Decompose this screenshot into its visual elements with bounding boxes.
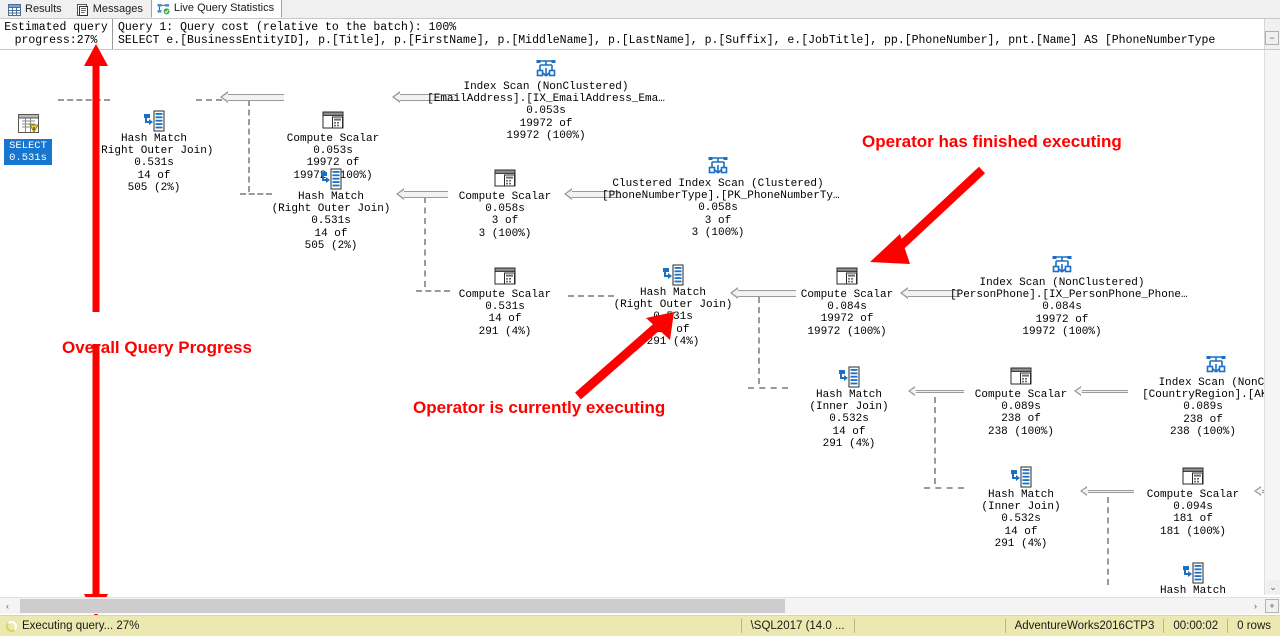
operator-rows-actual: 14 of [270, 228, 392, 240]
status-bar: Executing query... 27% \SQL2017 (14.0 ..… [0, 615, 1280, 636]
estimated-progress-line1: Estimated query [0, 21, 112, 34]
query-cost-line: Query 1: Query cost (relative to the bat… [118, 21, 1264, 34]
connector-hm5-cs6-bar [1088, 490, 1134, 493]
connector-hm3-branch-v [758, 297, 760, 384]
spinner-icon [6, 621, 17, 632]
plan-node-clustered-index-scan-phonenumbertype[interactable]: Clustered Index Scan (Clustered) [PhoneN… [602, 155, 834, 239]
connector-hm1-cs1-bar [228, 94, 284, 101]
tab-live-query-statistics-label: Live Query Statistics [174, 3, 274, 14]
connector-hm4-branch-h [924, 487, 964, 489]
operator-time: 0.084s [950, 301, 1174, 313]
connector-hm1-branch-h2 [240, 193, 272, 195]
connector-cs5-iscountry-bar [1082, 390, 1128, 393]
plan-node-compute-scalar-4[interactable]: Compute Scalar 0.084s 19972 of 19972 (10… [786, 266, 908, 338]
operator-rows-actual: 14 of [788, 426, 910, 438]
operator-rows-actual: 14 of [93, 170, 215, 182]
operator-title: Hash Match [1132, 585, 1254, 595]
query-cost-text: Query 1: Query cost (relative to the bat… [114, 19, 1264, 50]
operator-rows-actual: 181 of [1132, 513, 1254, 525]
compute-scalar-icon [1010, 366, 1032, 388]
operator-time: 0.531s [444, 301, 566, 313]
operator-rows-estimated: 181 (100%) [1132, 526, 1254, 538]
tab-results[interactable]: Results [2, 0, 70, 18]
status-executing-text: Executing query... 27% [22, 620, 139, 632]
connector-hm2-cs2-head [396, 188, 404, 200]
operator-rows-estimated: 505 (2%) [93, 182, 215, 194]
operator-subtitle: (Right Outer Join) [270, 203, 392, 215]
operator-title: Compute Scalar [444, 191, 566, 203]
annotation-arrow-executing [562, 308, 682, 403]
plan-node-index-scan-countryregion[interactable]: Index Scan (NonClu [CountryRegion].[AK_C… [1128, 354, 1280, 438]
operator-rows-estimated: 19972 (100%) [786, 326, 908, 338]
operator-rows-actual: 14 of [960, 526, 1082, 538]
connector-hm1-cs1-head [220, 91, 228, 103]
message-icon [76, 4, 89, 16]
compute-scalar-icon [836, 266, 858, 288]
connector-hm1-branch-h [196, 99, 222, 101]
operator-time: 0.531s [270, 215, 392, 227]
plan-node-compute-scalar-3[interactable]: Compute Scalar 0.531s 14 of 291 (4%) [444, 266, 566, 338]
operator-title: Compute Scalar [1132, 489, 1254, 501]
operator-subtitle: [CountryRegion].[AK_Cou [1128, 389, 1280, 401]
operator-title: Hash Match [788, 389, 910, 401]
grid-icon [8, 4, 21, 16]
tab-live-query-statistics[interactable]: Live Query Statistics [151, 0, 282, 18]
hash-match-icon [662, 264, 684, 286]
tab-messages-label: Messages [93, 4, 143, 15]
operator-title: Hash Match [960, 489, 1082, 501]
plan-node-hash-match-4[interactable]: Hash Match (Inner Join) 0.532s 14 of 291… [788, 366, 910, 450]
connector-hm4-cs5-bar [916, 390, 964, 393]
scroll-left-arrow[interactable]: ‹ [0, 599, 15, 614]
operator-rows-actual: 19972 of [424, 118, 668, 130]
operator-rows-actual: 238 of [1128, 414, 1278, 426]
plan-node-select[interactable]: SELECT 0.531s [4, 114, 52, 165]
annotation-overall-progress: Overall Query Progress [62, 338, 252, 358]
operator-rows-estimated: 3 (100%) [602, 227, 834, 239]
connector-cs1-isemail-head [392, 91, 400, 103]
status-database: AdventureWorks2016CTP3 [1006, 620, 1164, 632]
connector-cs3-hm3 [568, 295, 614, 297]
compute-scalar-icon [322, 110, 344, 132]
operator-time: 0.531s [93, 157, 215, 169]
live-stats-icon [157, 3, 170, 15]
select-result-icon [13, 114, 43, 138]
connector-hm3-branch-h [748, 387, 788, 389]
operator-subtitle: (Inner Join) [960, 501, 1082, 513]
estimated-query-progress: Estimated query progress:27% [0, 19, 113, 50]
operator-subtitle: (Right Outer Join) [93, 145, 215, 157]
connector-hm1-branch-v [248, 100, 250, 192]
operator-rows-actual: 19972 of [950, 314, 1174, 326]
clustered-index-scan-icon [706, 155, 730, 177]
plan-node-compute-scalar-5[interactable]: Compute Scalar 0.089s 238 of 238 (100%) [960, 366, 1082, 438]
operator-title: Hash Match [612, 287, 734, 299]
status-server: \SQL2017 (14.0 ... [742, 620, 854, 632]
plan-node-index-scan-emailaddress[interactable]: Index Scan (NonClustered) [EmailAddress]… [424, 58, 668, 142]
connector-cs6-offscreen-head [1254, 486, 1261, 496]
hash-match-icon [1182, 562, 1204, 584]
operator-time: 0.084s [786, 301, 908, 313]
operator-rows-estimated: 238 (100%) [960, 426, 1082, 438]
operator-time: 0.089s [960, 401, 1082, 413]
tab-results-label: Results [25, 4, 62, 15]
connector-hm2-branch-v [424, 197, 426, 287]
annotation-arrow-finished [860, 160, 990, 265]
operator-time: 0.532s [788, 413, 910, 425]
status-rows: 0 rows [1228, 620, 1280, 632]
operator-rows-actual: 238 of [960, 413, 1082, 425]
scroll-track[interactable] [15, 599, 1248, 613]
index-scan-icon [534, 58, 558, 80]
scroll-right-arrow[interactable]: › [1248, 598, 1263, 615]
operator-rows-estimated: 238 (100%) [1128, 426, 1278, 438]
scroll-thumb[interactable] [20, 599, 785, 613]
operator-time: 0.532s [960, 513, 1082, 525]
plan-node-compute-scalar-2[interactable]: Compute Scalar 0.058s 3 of 3 (100%) [444, 168, 566, 240]
operator-rows-estimated: 19972 (100%) [950, 326, 1174, 338]
execution-plan-canvas[interactable]: SELECT 0.531s [0, 50, 1280, 595]
operator-rows-estimated: 291 (4%) [960, 538, 1082, 550]
operator-time: 0.053s [424, 105, 668, 117]
select-node-badge: SELECT 0.531s [4, 139, 52, 165]
operator-subtitle: [EmailAddress].[IX_EmailAddress_Ema… [424, 93, 668, 105]
operator-title: Compute Scalar [272, 133, 394, 145]
plan-node-hash-match-6[interactable]: Hash Match [1132, 562, 1254, 595]
header-collapse-button[interactable]: − [1265, 31, 1279, 45]
compute-scalar-icon [1182, 466, 1204, 488]
operator-rows-actual: 3 of [602, 215, 834, 227]
operator-subtitle: (Inner Join) [788, 401, 910, 413]
operator-title: Index Scan (NonClustered) [950, 277, 1174, 289]
tab-messages[interactable]: Messages [70, 0, 151, 18]
operator-time: 0.058s [602, 202, 834, 214]
header-scroll-cap: − [1264, 19, 1280, 50]
connector-hm2-cs2-bar [404, 191, 448, 198]
operator-title: Compute Scalar [786, 289, 908, 301]
results-pane-tabstrip: Results Messages Live Query Statistics [0, 0, 1280, 19]
operator-title: Compute Scalar [960, 389, 1082, 401]
plan-horizontal-scrollbar[interactable]: ‹ › + [0, 597, 1280, 614]
plan-vertical-scrollbar[interactable]: ⌄ [1264, 50, 1280, 595]
status-elapsed: 00:00:02 [1164, 620, 1227, 632]
operator-time: 0.094s [1132, 501, 1254, 513]
operator-rows-estimated: 19972 (100%) [424, 130, 668, 142]
compute-scalar-icon [494, 168, 516, 190]
operator-title: Hash Match [270, 191, 392, 203]
operator-rows-estimated: 291 (4%) [788, 438, 910, 450]
scroll-down-arrow[interactable]: ⌄ [1266, 580, 1280, 594]
plan-node-hash-match-5[interactable]: Hash Match (Inner Join) 0.532s 14 of 291… [960, 466, 1082, 550]
operator-title: Hash Match [93, 133, 215, 145]
plan-node-hash-match-2[interactable]: Hash Match (Right Outer Join) 0.531s 14 … [270, 168, 392, 252]
hash-match-icon [320, 168, 342, 190]
operator-rows-estimated: 505 (2%) [270, 240, 392, 252]
operator-subtitle: [PersonPhone].[IX_PersonPhone_Phone… [950, 289, 1174, 301]
operator-title: Clustered Index Scan (Clustered) [602, 178, 834, 190]
operator-rows-estimated: 291 (4%) [444, 326, 566, 338]
plan-node-index-scan-personphone[interactable]: Index Scan (NonClustered) [PersonPhone].… [950, 254, 1174, 338]
index-scan-icon [1050, 254, 1074, 276]
status-executing-group: Executing query... 27% [0, 620, 139, 632]
operator-title: Index Scan (NonClu [1128, 377, 1280, 389]
operator-subtitle: [PhoneNumberType].[PK_PhoneNumberTy… [602, 190, 834, 202]
operator-time: 0.053s [272, 145, 394, 157]
plan-node-hash-match-1[interactable]: Hash Match (Right Outer Join) 0.531s 14 … [93, 110, 215, 194]
connector-hm5-branch-v [1107, 497, 1109, 585]
operator-title: Index Scan (NonClustered) [424, 81, 668, 93]
select-node-time: 0.531s [7, 152, 49, 164]
query-plan-header: Estimated query progress:27% Query 1: Qu… [0, 19, 1280, 50]
annotation-operator-finished: Operator has finished executing [862, 132, 1122, 152]
operator-rows-actual: 3 of [444, 215, 566, 227]
operator-rows-actual: 19972 of [786, 313, 908, 325]
status-divider [854, 619, 855, 633]
hash-match-icon [838, 366, 860, 388]
hash-match-icon [143, 110, 165, 132]
connector-select-hashmatch1 [58, 99, 110, 101]
select-node-name: SELECT [7, 140, 49, 152]
operator-rows-actual: 14 of [444, 313, 566, 325]
plan-node-compute-scalar-6[interactable]: Compute Scalar 0.094s 181 of 181 (100%) [1132, 466, 1254, 538]
connector-hm4-branch-v [934, 397, 936, 484]
operator-rows-estimated: 3 (100%) [444, 228, 566, 240]
compute-scalar-icon [494, 266, 516, 288]
operator-title: Compute Scalar [444, 289, 566, 301]
index-scan-icon [1204, 354, 1228, 376]
estimated-progress-line2: progress:27% [0, 34, 112, 47]
operator-time: 0.058s [444, 203, 566, 215]
live-query-statistics-window: Results Messages Live Query Statistics [0, 0, 1280, 636]
hash-match-icon [1010, 466, 1032, 488]
operator-time: 0.089s [1128, 401, 1278, 413]
scroll-corner-button[interactable]: + [1265, 599, 1279, 613]
query-sql-line: SELECT e.[BusinessEntityID], p.[Title], … [118, 34, 1264, 47]
